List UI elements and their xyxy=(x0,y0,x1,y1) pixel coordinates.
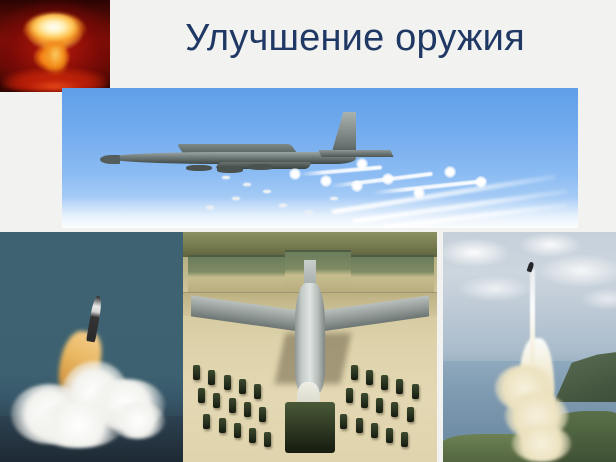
munition xyxy=(401,432,408,447)
smoke-puff xyxy=(512,425,571,462)
falling-bomb xyxy=(243,183,251,186)
mushroom-cap xyxy=(24,13,86,48)
munition xyxy=(203,414,210,429)
munitions-trailer xyxy=(285,402,336,453)
munition xyxy=(351,365,358,380)
munition xyxy=(386,428,393,443)
munition xyxy=(340,414,347,429)
image-nuclear-explosion[interactable] xyxy=(0,0,110,92)
munition xyxy=(259,407,266,422)
munition xyxy=(346,388,353,403)
munition xyxy=(366,370,373,385)
munition xyxy=(244,402,251,417)
missile-trail xyxy=(530,269,535,366)
munition xyxy=(371,423,378,438)
munition xyxy=(198,388,205,403)
munition xyxy=(234,423,241,438)
munition xyxy=(219,418,226,433)
munition xyxy=(193,365,200,380)
munition xyxy=(224,375,231,390)
munition xyxy=(376,398,383,413)
missile-body xyxy=(86,296,103,343)
munition xyxy=(239,379,246,394)
munition xyxy=(356,418,363,433)
image-armed-bomber-on-ramp[interactable] xyxy=(183,232,437,462)
munition xyxy=(213,393,220,408)
aircraft-engine xyxy=(217,166,243,172)
munition xyxy=(391,402,398,417)
falling-bomb xyxy=(206,206,214,209)
munition xyxy=(254,384,261,399)
falling-bomb xyxy=(263,190,271,193)
munition xyxy=(229,398,236,413)
aircraft-engine xyxy=(186,165,212,171)
munition xyxy=(208,370,215,385)
munition xyxy=(381,375,388,390)
water-spray xyxy=(110,402,165,439)
munition xyxy=(412,384,419,399)
munition xyxy=(361,393,368,408)
flare-trail xyxy=(299,166,382,177)
aircraft-engine xyxy=(248,164,274,170)
munition xyxy=(249,428,256,443)
image-trident-submarine-launched-missile[interactable] xyxy=(0,232,183,462)
hangar-building xyxy=(351,255,435,294)
image-b52-bomber-dropping-bombs[interactable] xyxy=(62,88,578,228)
munition xyxy=(264,432,271,447)
munition xyxy=(407,407,414,422)
aircraft-fuselage xyxy=(295,283,325,393)
munition xyxy=(396,379,403,394)
blast-base xyxy=(2,67,108,89)
flare xyxy=(444,166,456,178)
falling-bomb xyxy=(222,176,230,179)
slide-title: Улучшение оружия xyxy=(120,8,590,70)
aircraft-nose xyxy=(100,155,121,163)
presentation-slide: Улучшение оружия xyxy=(0,0,616,462)
hangar-building xyxy=(188,255,285,294)
image-icbm-coastal-launch[interactable] xyxy=(443,232,616,462)
aircraft-tailplane xyxy=(318,150,393,157)
